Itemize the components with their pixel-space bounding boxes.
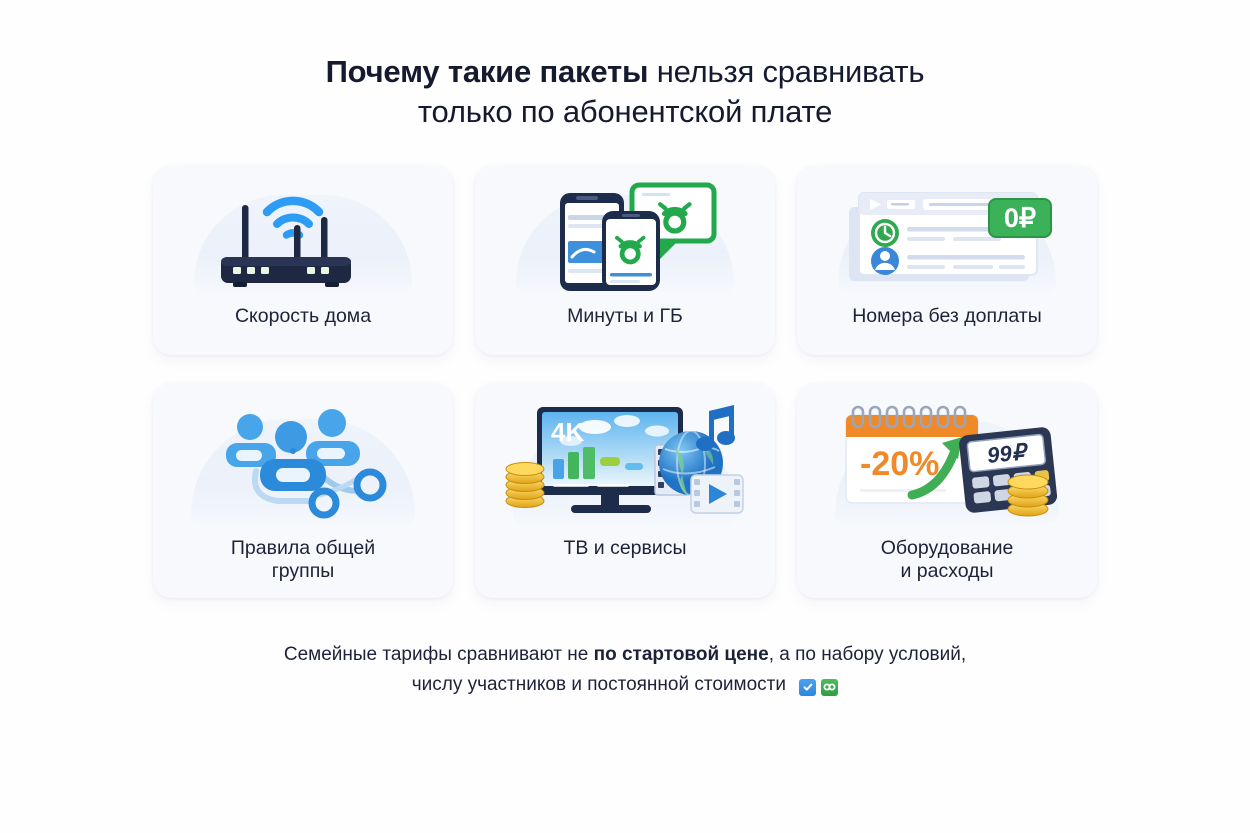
people-network-icon — [178, 393, 428, 525]
card-speed-at-home[interactable]: Скорость дома — [153, 165, 453, 355]
card-label-speed-at-home: Скорость дома — [225, 305, 381, 329]
router-wifi-icon — [178, 175, 428, 293]
check-badge-icon — [799, 679, 816, 696]
phones-call-bubble-icon — [500, 175, 750, 293]
title-normal-part: нельзя сравнивать — [657, 54, 925, 89]
footer-badges — [799, 679, 838, 696]
label-line-1: Оборудование — [881, 537, 1014, 559]
card-shared-group-rules[interactable]: Правила общей группы — [153, 383, 453, 598]
label-line-2: и расходы — [900, 560, 993, 582]
title-line-1: Почему такие пакеты нельзя сравнивать — [326, 52, 925, 92]
footer-line-1: Семейные тарифы сравнивают не по стартов… — [145, 640, 1105, 671]
card-minutes-and-gb[interactable]: Минуты и ГБ — [475, 165, 775, 355]
footer-text-d: числу участников и постоянной стоимости — [412, 674, 786, 695]
tv-resolution-text: 4K — [551, 417, 584, 447]
card-label-numbers-no-surcharge: Номера без доплаты — [842, 305, 1052, 329]
calculator-price-text: 99₽ — [985, 438, 1030, 467]
footer-text-highlight: по стартовой цене — [594, 644, 769, 665]
footer-text-a: Семейные тарифы сравнивают не — [284, 644, 594, 665]
card-label-minutes-and-gb: Минуты и ГБ — [557, 305, 693, 329]
card-label-equipment-and-costs: Оборудование и расходы — [871, 537, 1024, 585]
card-label-shared-group-rules: Правила общей группы — [221, 537, 385, 585]
footer-line-2: числу участников и постоянной стоимости — [145, 670, 1105, 701]
page-title: Почему такие пакеты нельзя сравнивать то… — [326, 52, 925, 133]
title-line-2: только по абонентской плате — [326, 92, 925, 132]
label-line-1: Правила общей — [231, 537, 375, 559]
discount-text: -20% — [860, 445, 939, 483]
calendar-calculator-icon: -20% 99₽ — [822, 393, 1072, 525]
card-tv-and-services[interactable]: 4K — [475, 383, 775, 598]
card-label-tv-and-services: ТВ и сервисы — [553, 537, 696, 561]
label-line-2: группы — [272, 560, 335, 582]
tv-globe-media-icon: 4K — [500, 393, 750, 525]
title-strong-part: Почему такие пакеты — [326, 54, 649, 89]
footer-note: Семейные тарифы сравнивают не по стартов… — [145, 640, 1105, 702]
card-numbers-no-surcharge[interactable]: 0₽ Номера без доплаты — [797, 165, 1097, 355]
infographic-page: Почему такие пакеты нельзя сравнивать то… — [0, 0, 1250, 833]
zero-price-badge-text: 0₽ — [1004, 203, 1036, 233]
card-equipment-and-costs[interactable]: -20% 99₽ — [797, 383, 1097, 598]
window-zero-price-icon: 0₽ — [822, 175, 1072, 293]
infinity-badge-icon — [821, 679, 838, 696]
feature-card-grid: Скорость дома — [125, 165, 1125, 598]
footer-text-c: , а по набору условий, — [769, 644, 966, 665]
